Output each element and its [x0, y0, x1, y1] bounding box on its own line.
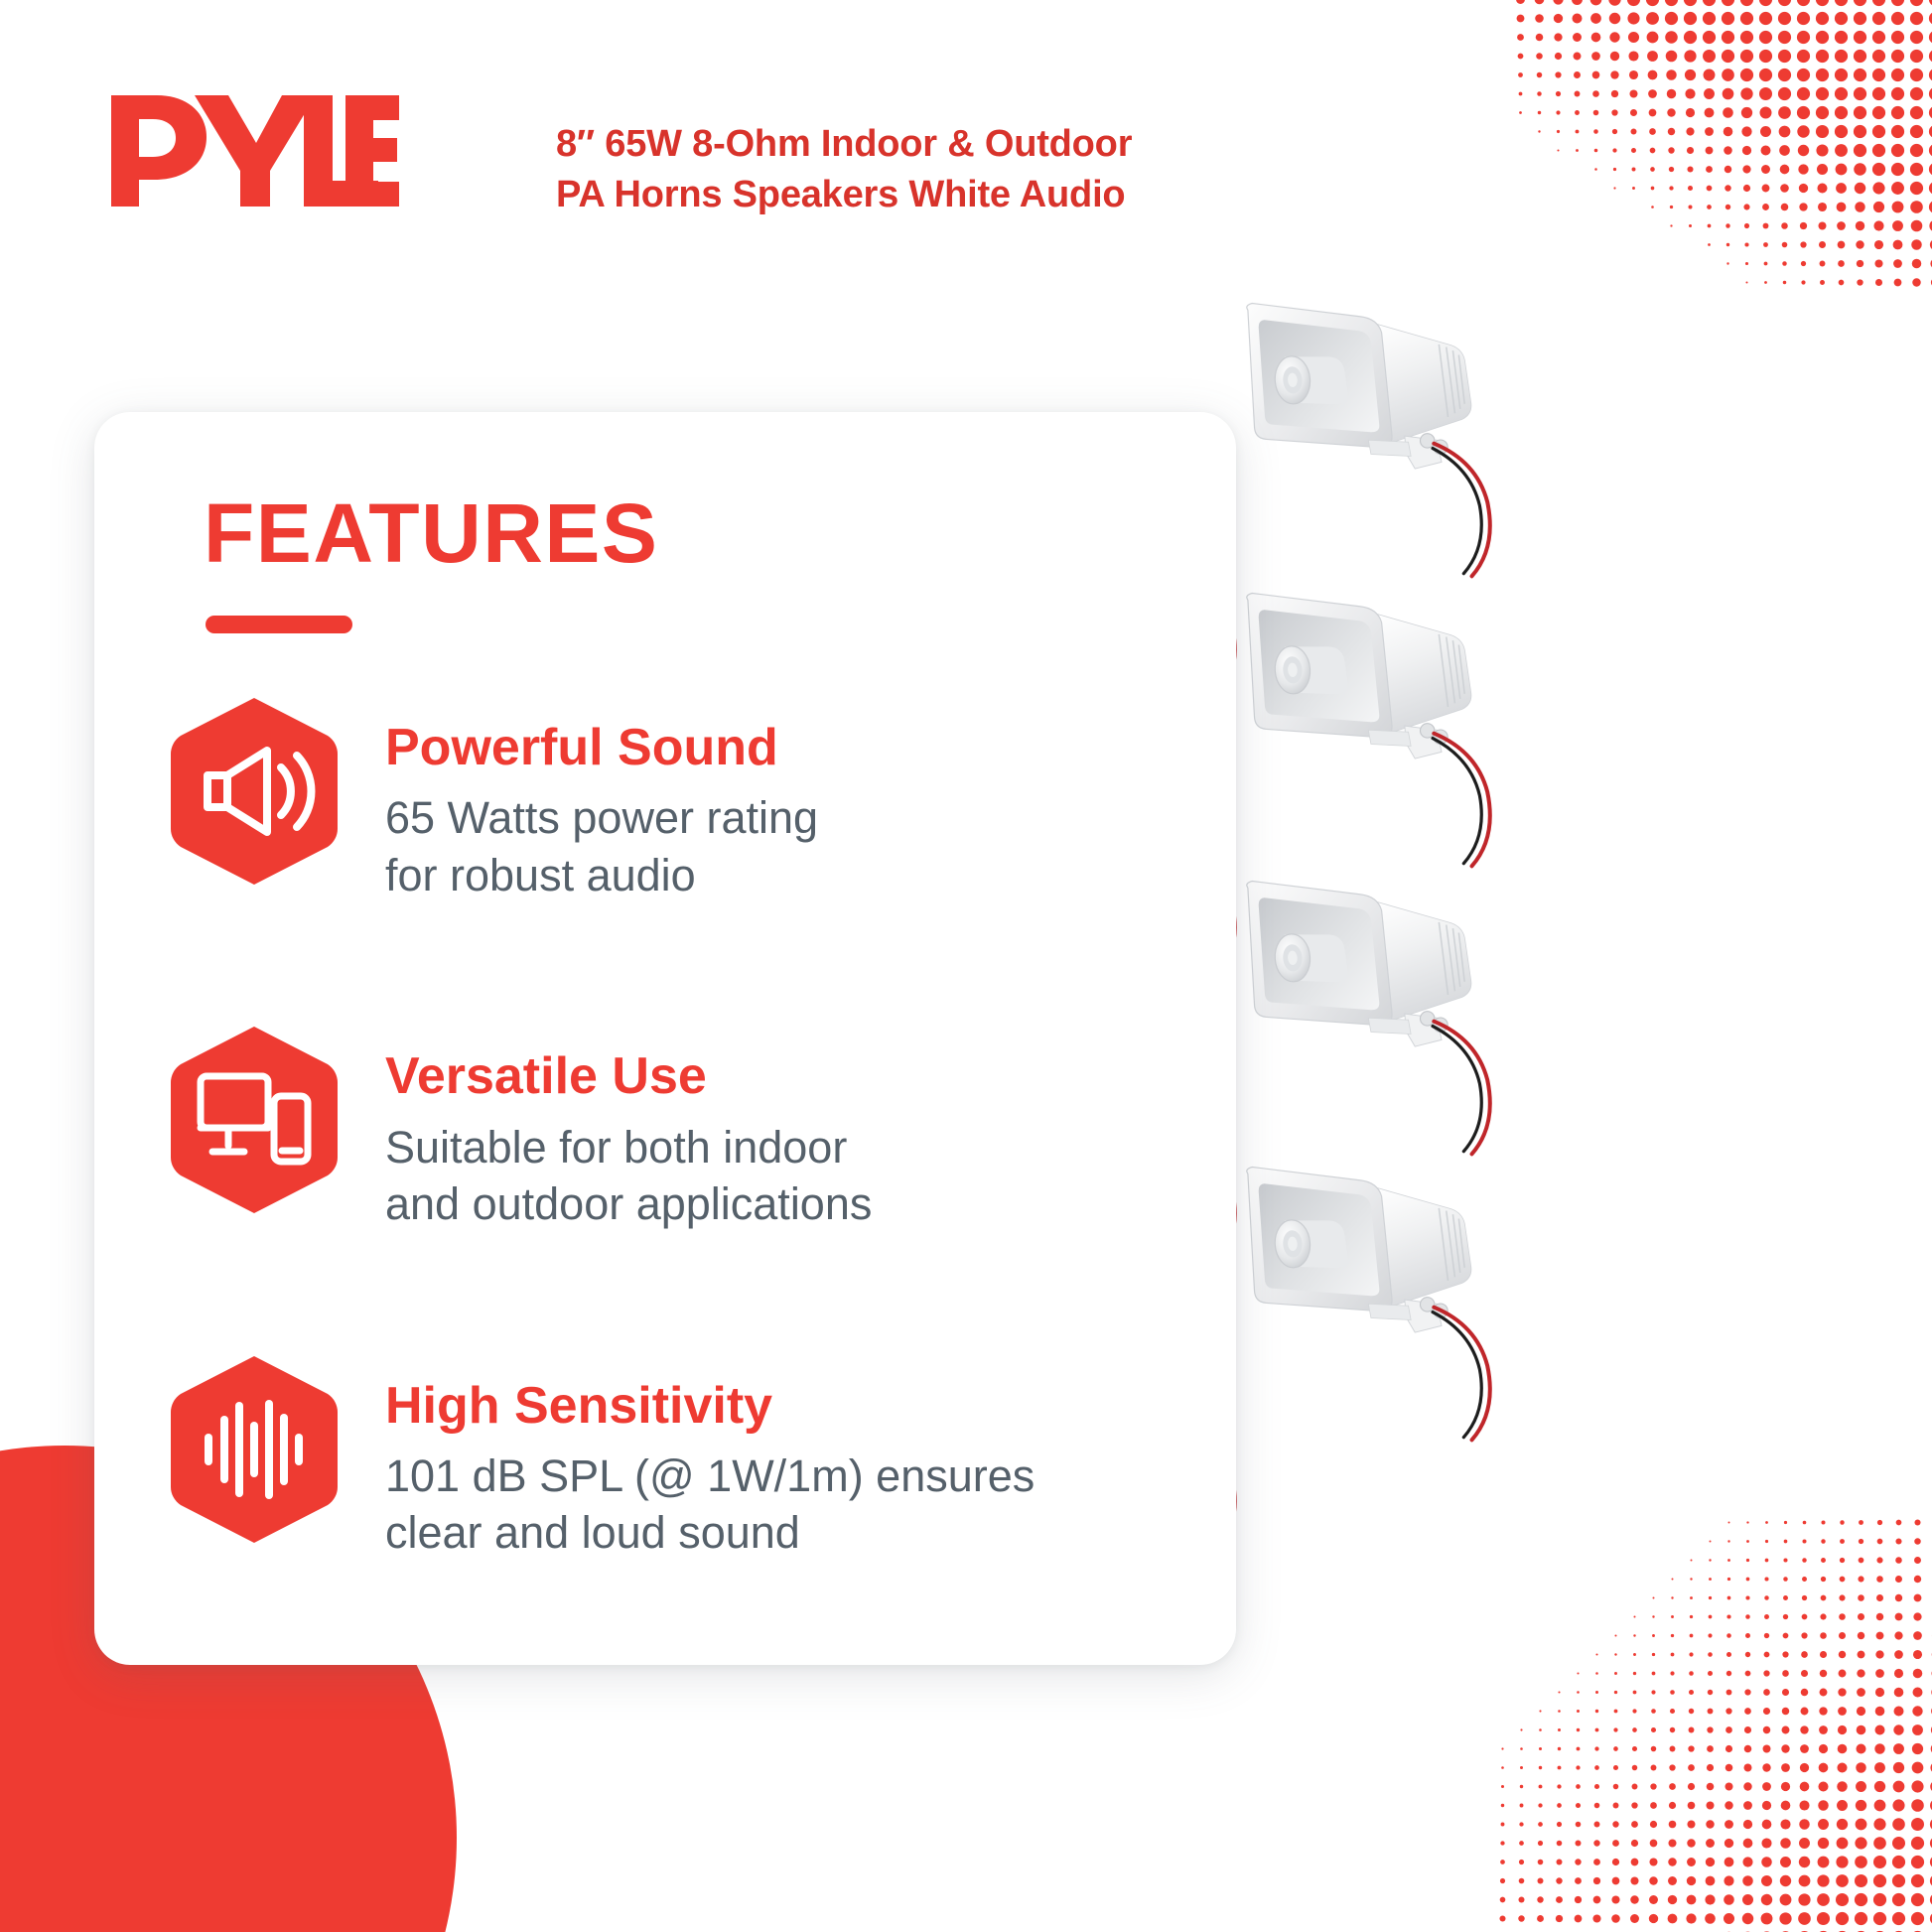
feature-item-versatile-use: Versatile Use Suitable for both indoor a…	[94, 1025, 1236, 1232]
feature-description: Suitable for both indoor and outdoor app…	[385, 1119, 872, 1233]
product-title-line-1: 8″ 65W 8-Ohm Indoor & Outdoor	[556, 119, 1311, 170]
feature-text-block: High Sensitivity 101 dB SPL (@ 1W/1m) en…	[340, 1354, 1035, 1562]
pa-horn-speaker	[1246, 288, 1494, 591]
speaker-volume-icon	[169, 696, 340, 887]
feature-text-block: Versatile Use Suitable for both indoor a…	[340, 1025, 872, 1232]
halftone-pattern-bottom-right	[1493, 1513, 1932, 1932]
feature-title: Powerful Sound	[385, 720, 818, 775]
pa-horn-speaker	[1246, 1152, 1494, 1454]
feature-description: 101 dB SPL (@ 1W/1m) ensures clear and l…	[385, 1448, 1035, 1562]
pyle-logo	[111, 95, 399, 207]
feature-description: 65 Watts power rating for robust audio	[385, 789, 818, 903]
monitor-and-phone-icon	[169, 1025, 340, 1215]
infographic-canvas: 8″ 65W 8-Ohm Indoor & Outdoor PA Horns S…	[0, 0, 1932, 1932]
feature-text-block: Powerful Sound 65 Watts power rating for…	[340, 696, 818, 903]
feature-list: Powerful Sound 65 Watts power rating for…	[94, 696, 1236, 1562]
feature-item-high-sensitivity: High Sensitivity 101 dB SPL (@ 1W/1m) en…	[94, 1354, 1236, 1562]
product-title: 8″ 65W 8-Ohm Indoor & Outdoor PA Horns S…	[556, 119, 1311, 220]
header: 8″ 65W 8-Ohm Indoor & Outdoor PA Horns S…	[0, 0, 1932, 248]
feature-item-powerful-sound: Powerful Sound 65 Watts power rating for…	[94, 696, 1236, 903]
feature-title: Versatile Use	[385, 1048, 872, 1104]
features-heading: FEATURES	[204, 491, 658, 575]
pa-horn-speaker	[1246, 866, 1494, 1169]
pa-horn-speaker	[1246, 578, 1494, 881]
product-title-line-2: PA Horns Speakers White Audio	[556, 170, 1311, 220]
audio-waveform-icon	[169, 1354, 340, 1545]
features-card: FEATURES Powerfu	[94, 412, 1236, 1665]
product-photo	[1122, 268, 1932, 1932]
feature-title: High Sensitivity	[385, 1378, 1035, 1434]
heading-accent-rule	[206, 616, 352, 633]
